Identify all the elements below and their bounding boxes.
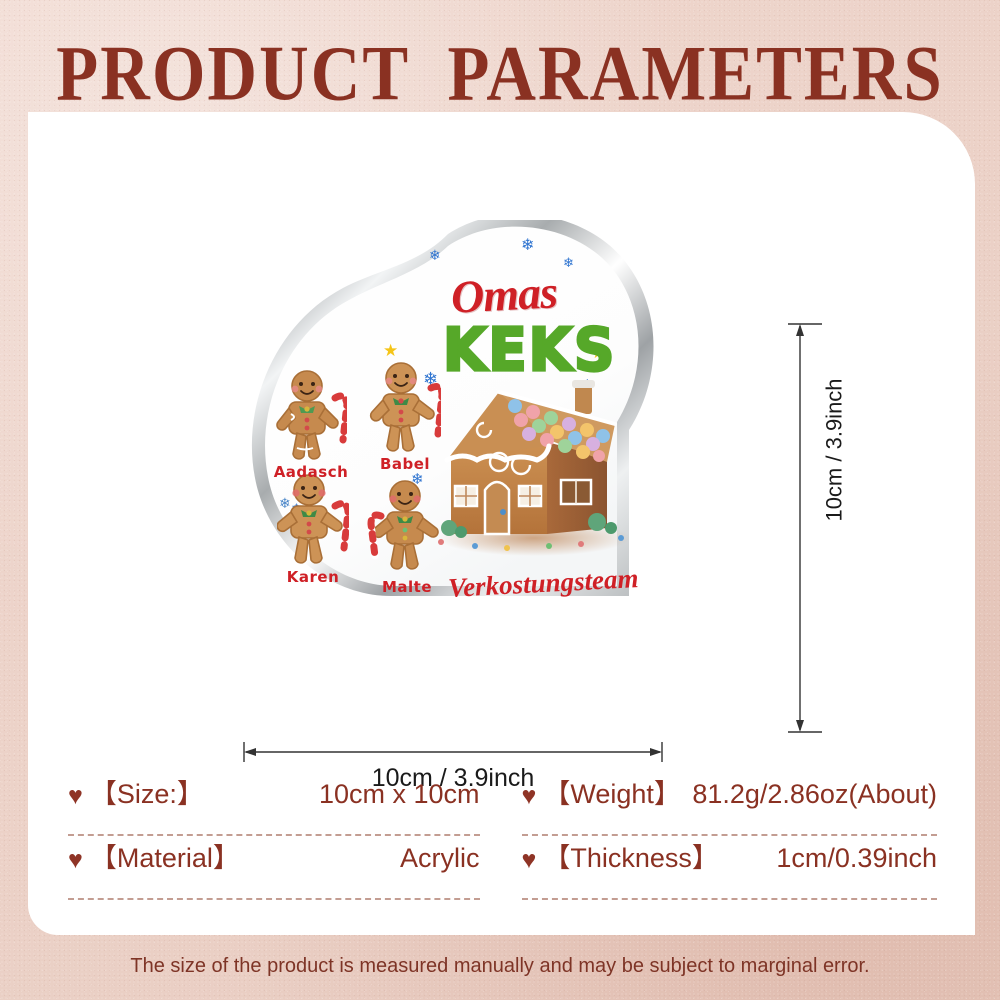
character-name: Aadasch — [266, 463, 356, 481]
spec-row-material: ♥【Material】 Acrylic — [68, 836, 480, 898]
gingerbread-man-icon — [275, 368, 347, 460]
spec-row-weight: ♥【Weight】 81.2g/2.86oz(About) — [522, 772, 938, 834]
snowflake-icon: ❄ — [429, 248, 441, 262]
gingerbread-man-icon — [367, 478, 443, 570]
heart-icon: ♥ — [522, 846, 537, 875]
spec-divider — [68, 898, 480, 900]
spec-label: ♥【Thickness】 — [522, 836, 719, 875]
spec-label-text: 【Thickness】 — [543, 843, 719, 873]
footer-script: Verkostungsteam — [447, 563, 639, 604]
gingerbread-house-icon — [429, 370, 639, 560]
heart-icon: ♥ — [68, 782, 83, 811]
horizontal-dimension-line — [238, 740, 668, 764]
spec-value: 10cm x 10cm — [319, 779, 480, 810]
spec-value: Acrylic — [400, 843, 480, 874]
product-image: ❄ ❄ ❄ ★ ★ ❄ ❄ ❄ ❄ ❄ Omas KEKS — [28, 112, 788, 692]
spec-divider — [68, 834, 480, 836]
star-icon: ★ — [383, 342, 398, 359]
spec-label-text: 【Weight】 — [543, 779, 681, 809]
gingerbread-man-icon: ❄ — [277, 472, 349, 564]
spec-divider — [522, 898, 938, 900]
character-name: Malte — [362, 578, 452, 596]
spec-row-thickness: ♥【Thickness】 1cm/0.39inch — [522, 836, 938, 898]
vertical-dimension-line — [768, 310, 888, 750]
spec-label: ♥【Weight】 — [522, 772, 681, 811]
page-title: PRODUCT PARAMETERS — [0, 36, 1000, 114]
spec-row-size: ♥【Size:】 10cm x 10cm — [68, 772, 480, 834]
vertical-dimension-label: 10cm / 3.9inch — [822, 378, 848, 521]
spec-label: ♥【Size:】 — [68, 772, 204, 811]
spec-column-right: ♥【Weight】 81.2g/2.86oz(About) ♥【Thicknes… — [502, 772, 976, 912]
footer-note: The size of the product is measured manu… — [0, 955, 1000, 978]
spec-label-text: 【Material】 — [90, 843, 240, 873]
snowflake-icon: ❄ — [563, 256, 574, 269]
headline-script: Omas — [450, 265, 559, 323]
character-name: Babel — [360, 455, 450, 473]
spec-column-left: ♥【Size:】 10cm x 10cm ♥【Material】 Acrylic — [28, 772, 502, 912]
spec-divider — [522, 834, 938, 836]
svg-text:❄: ❄ — [279, 495, 291, 511]
gingerbread-man-icon — [369, 360, 441, 452]
character-name: Karen — [268, 568, 358, 586]
heart-icon: ♥ — [522, 782, 537, 811]
parameters-card: ❄ ❄ ❄ ★ ★ ❄ ❄ ❄ ❄ ❄ Omas KEKS — [28, 112, 975, 935]
snowflake-icon: ❄ — [521, 238, 534, 254]
plaque-artwork: ❄ ❄ ❄ ★ ★ ❄ ❄ ❄ ❄ ❄ Omas KEKS — [233, 220, 663, 640]
spec-value: 81.2g/2.86oz(About) — [692, 779, 937, 810]
heart-icon: ♥ — [68, 846, 83, 875]
spec-table: ♥【Size:】 10cm x 10cm ♥【Material】 Acrylic… — [28, 772, 975, 912]
heart-acrylic-plaque: ❄ ❄ ❄ ★ ★ ❄ ❄ ❄ ❄ ❄ Omas KEKS — [233, 220, 663, 640]
spec-value: 1cm/0.39inch — [776, 843, 937, 874]
spec-label-text: 【Size:】 — [90, 779, 204, 809]
spec-label: ♥【Material】 — [68, 836, 240, 875]
